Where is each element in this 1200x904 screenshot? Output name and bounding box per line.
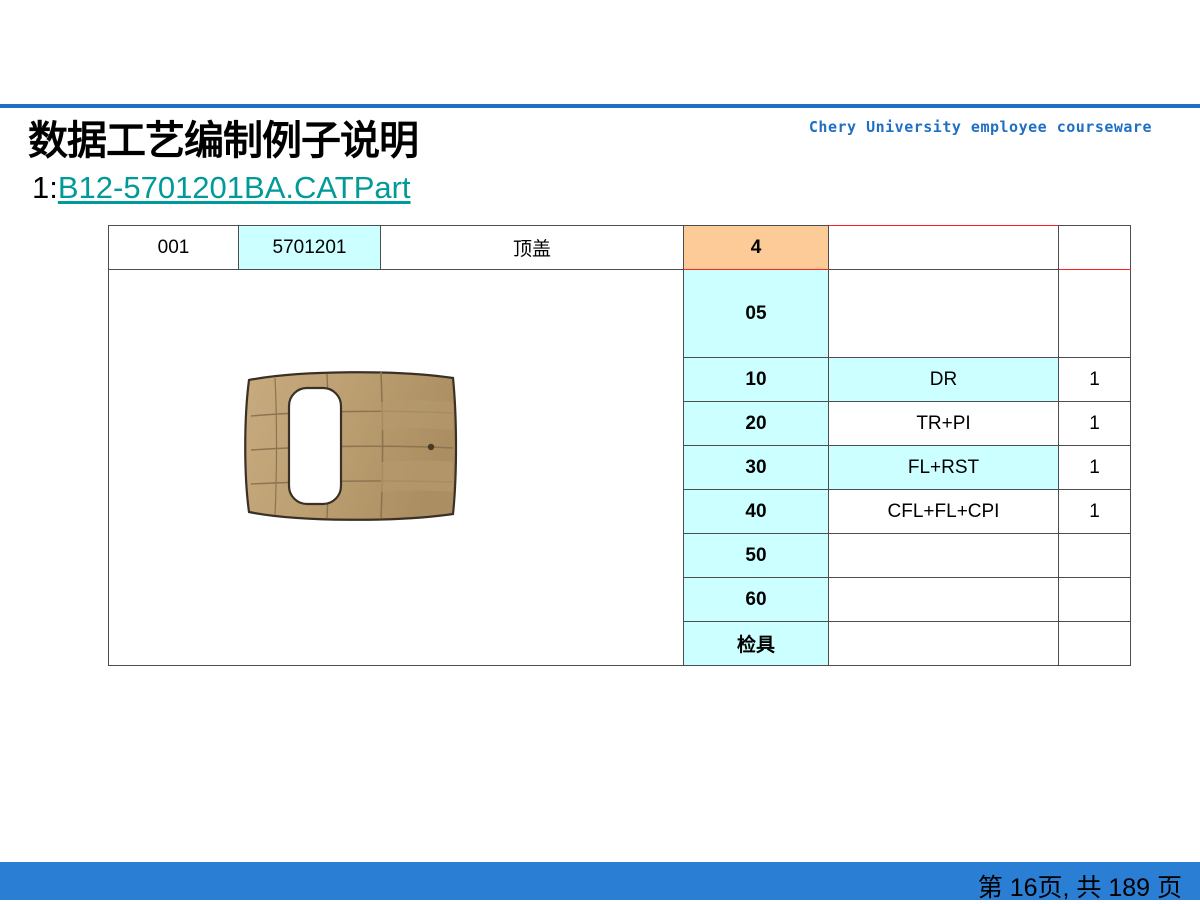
cell-op-number[interactable]: 20 [684, 402, 829, 446]
cell-op-desc[interactable] [829, 622, 1059, 666]
table-row: 05 [109, 270, 1131, 358]
cell-op-qty[interactable] [1059, 534, 1131, 578]
cell-op-count[interactable]: 4 [684, 226, 829, 270]
cell-op-qty[interactable]: 1 [1059, 490, 1131, 534]
cell-op-number[interactable]: 50 [684, 534, 829, 578]
catpart-link[interactable]: B12-5701201BA.CATPart [58, 170, 411, 205]
cell-op-number[interactable]: 05 [684, 270, 829, 358]
car-roof-panel-cad-render [231, 358, 471, 533]
cell-op-desc-header[interactable] [829, 226, 1059, 270]
cell-op-desc[interactable] [829, 534, 1059, 578]
cell-part-no[interactable]: 001 [109, 226, 239, 270]
cell-op-qty[interactable]: 1 [1059, 402, 1131, 446]
cell-part-name[interactable]: 顶盖 [381, 226, 684, 270]
page-title: 数据工艺编制例子说明 [28, 108, 418, 166]
cell-op-number[interactable]: 10 [684, 358, 829, 402]
cell-op-number[interactable]: 40 [684, 490, 829, 534]
cell-op-qty[interactable] [1059, 578, 1131, 622]
cell-op-desc[interactable]: TR+PI [829, 402, 1059, 446]
subtitle-prefix: 1: [32, 170, 58, 205]
page-number: 第 16页, 共 189 页 [978, 868, 1182, 904]
cell-op-desc[interactable]: FL+RST [829, 446, 1059, 490]
cell-drawing-no[interactable]: 5701201 [239, 226, 381, 270]
cell-op-qty[interactable]: 1 [1059, 358, 1131, 402]
cell-op-qty[interactable]: 1 [1059, 446, 1131, 490]
cell-op-desc[interactable] [829, 270, 1059, 358]
cell-op-number[interactable]: 检具 [684, 622, 829, 666]
courseware-label: Chery University employee courseware [809, 118, 1152, 136]
cell-qty-header[interactable] [1059, 226, 1131, 270]
cell-op-desc[interactable] [829, 578, 1059, 622]
subtitle: 1:B12-5701201BA.CATPart [32, 170, 411, 206]
cell-op-qty[interactable] [1059, 622, 1131, 666]
part-image-cell [109, 270, 684, 666]
cell-op-number[interactable]: 60 [684, 578, 829, 622]
process-plan-table: 001 5701201 顶盖 4 [108, 225, 1131, 666]
cell-op-desc[interactable]: DR [829, 358, 1059, 402]
table-row-identification: 001 5701201 顶盖 4 [109, 226, 1131, 270]
cell-op-desc[interactable]: CFL+FL+CPI [829, 490, 1059, 534]
cell-op-qty[interactable] [1059, 270, 1131, 358]
cell-op-number[interactable]: 30 [684, 446, 829, 490]
